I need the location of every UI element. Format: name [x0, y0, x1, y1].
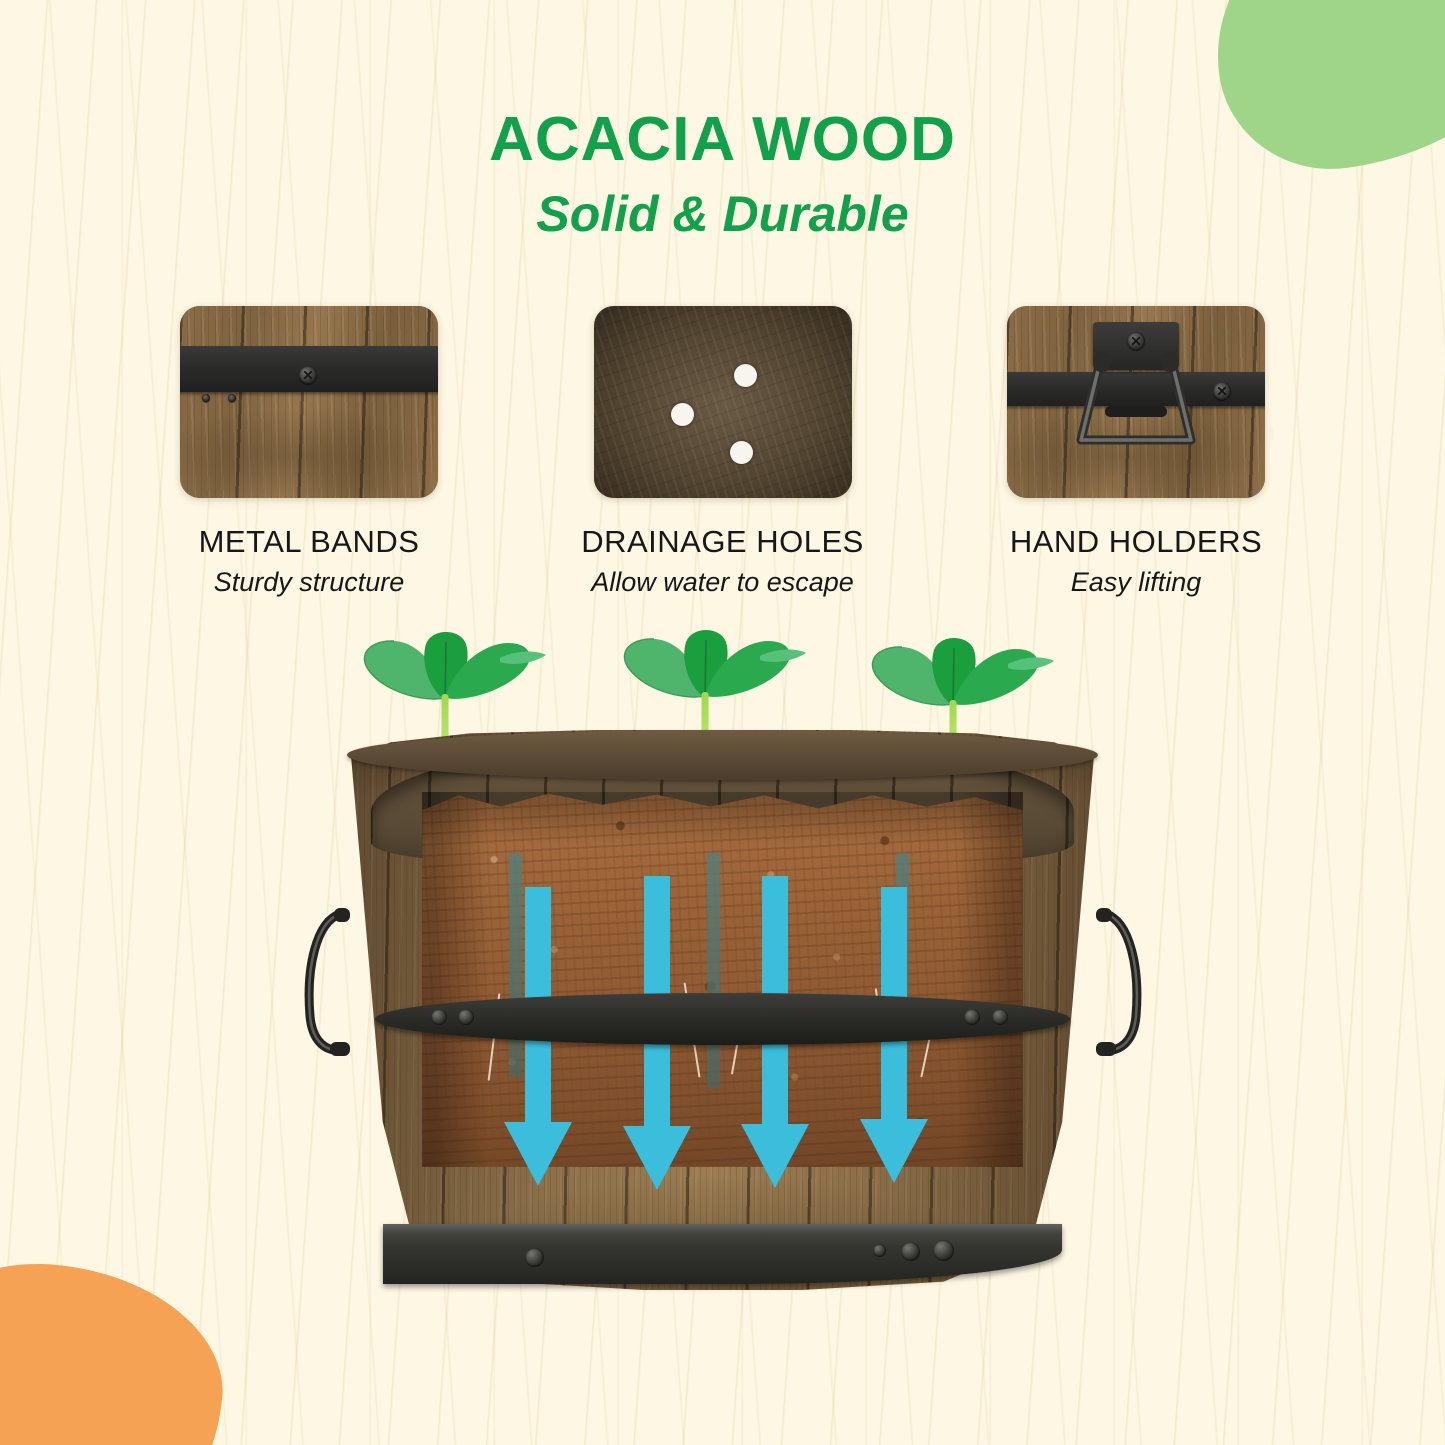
screw-icon [525, 1248, 544, 1267]
feature-subtitle: Sturdy structure [214, 567, 405, 598]
screw-icon [1213, 382, 1231, 400]
barrel-bottom-metal-band [383, 1224, 1062, 1284]
barrel-top-lip [347, 730, 1098, 780]
feature-subtitle: Easy lifting [1071, 567, 1202, 598]
page-title: ACACIA WOOD [0, 104, 1445, 175]
right-side-handle-icon [1094, 906, 1150, 1056]
screw-icon [299, 366, 317, 384]
page-subtitle: Solid & Durable [0, 185, 1445, 243]
rivet-icon [458, 1009, 474, 1025]
hero-product-image [0, 620, 1445, 1340]
screw-icon [1127, 332, 1145, 350]
rivet-icon [228, 394, 236, 402]
rivet-icon [202, 394, 210, 402]
rivet-icon [964, 1009, 980, 1025]
rivet-icon [431, 1009, 447, 1025]
wood-slat-texture [180, 306, 438, 498]
feature-title: HAND HOLDERS [1010, 524, 1262, 560]
barrel-base-texture [594, 306, 852, 498]
headline-block: ACACIA WOOD Solid & Durable [0, 104, 1445, 243]
seedling-plant [600, 626, 810, 746]
metal-bands-thumbnail [180, 306, 438, 498]
screw-icon [933, 1240, 954, 1261]
hand-holder-handle-icon [1071, 352, 1201, 450]
hand-holders-thumbnail [1007, 306, 1265, 498]
infographic-canvas: ACACIA WOOD Solid & Durable METAL BANDS … [0, 0, 1445, 1445]
drainage-hole-icon [734, 364, 757, 387]
screw-icon [901, 1242, 920, 1261]
feature-title: DRAINAGE HOLES [581, 524, 864, 560]
barrel-planter [328, 730, 1118, 1290]
drainage-hole-icon [730, 441, 753, 464]
drainage-holes-thumbnail [594, 306, 852, 498]
drainage-hole-icon [671, 403, 694, 426]
screw-icon [873, 1244, 886, 1257]
rivet-icon [992, 1009, 1008, 1025]
feature-title: METAL BANDS [199, 524, 420, 560]
feature-item-hand-holders: HAND HOLDERS Easy lifting [1007, 306, 1265, 598]
feature-item-metal-bands: METAL BANDS Sturdy structure [180, 306, 438, 598]
buried-stem [509, 853, 522, 1077]
feature-list: METAL BANDS Sturdy structure DRAINAGE HO… [180, 306, 1265, 598]
barrel-middle-metal-band [375, 993, 1070, 1045]
buried-stem [707, 853, 720, 1088]
feature-item-drainage-holes: DRAINAGE HOLES Allow water to escape [594, 306, 852, 598]
left-side-handle-icon [296, 906, 352, 1056]
feature-subtitle: Allow water to escape [591, 567, 854, 598]
